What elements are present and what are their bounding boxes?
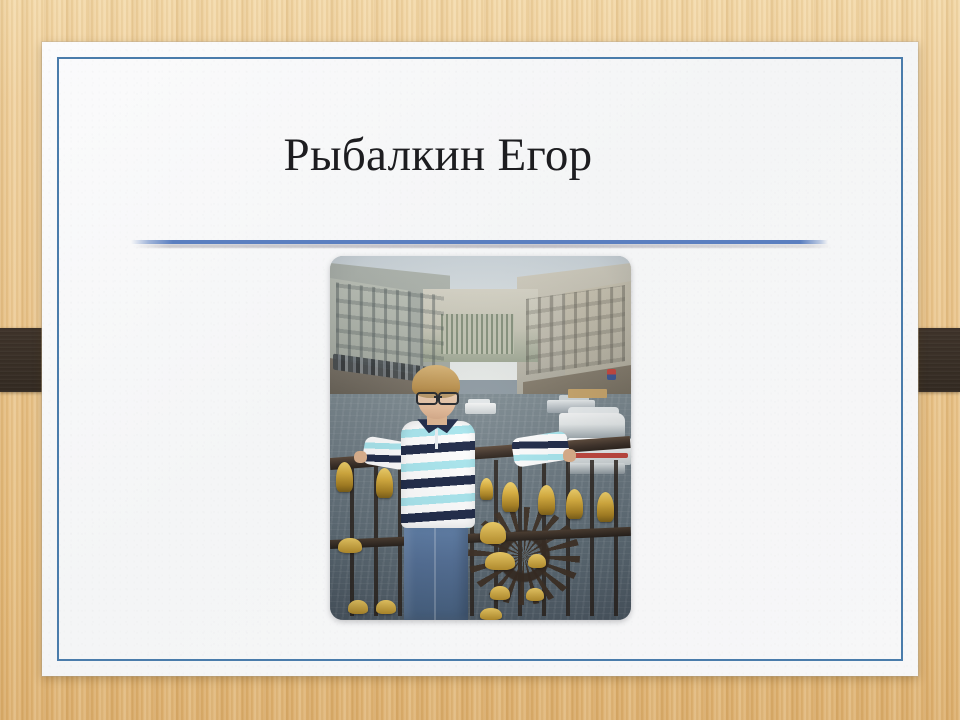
title-divider [131, 240, 828, 249]
presentation-stage: Рыбалкин Егор [0, 0, 960, 720]
photo-vignette [330, 256, 631, 620]
slide-photo [330, 256, 631, 620]
title-divider-line [131, 240, 828, 244]
title-divider-shadow [134, 244, 831, 248]
slide-title: Рыбалкин Егор [70, 126, 806, 184]
